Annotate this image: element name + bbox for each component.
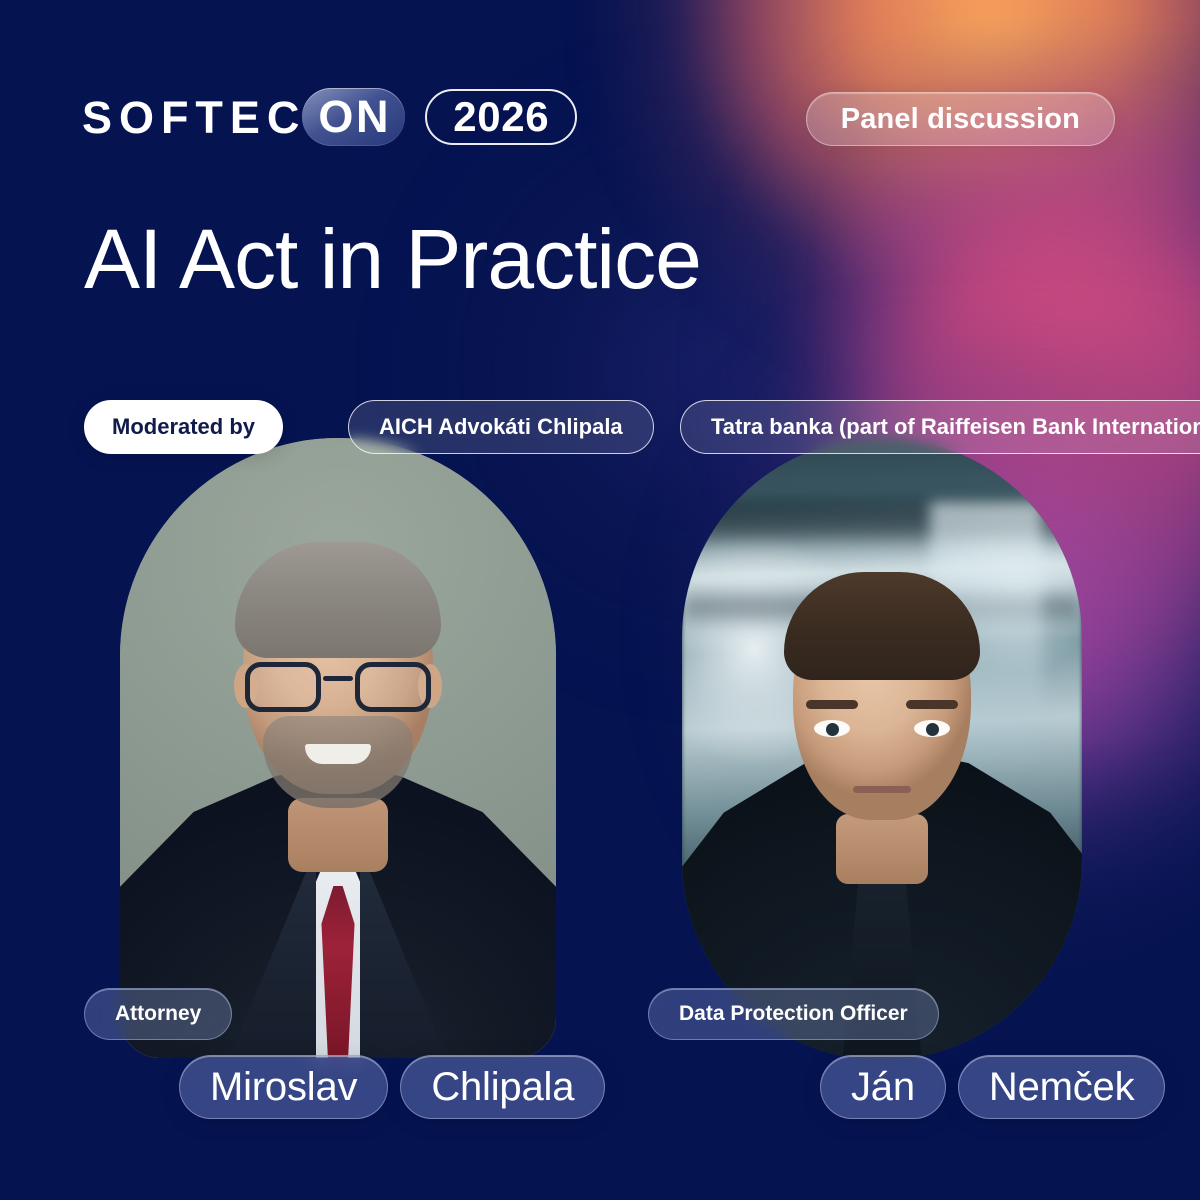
speaker-company-badge-panelist: Tatra banka (part of Raiffeisen Bank Int… [680, 400, 1200, 454]
speaker-photo-jan-nemcek [682, 438, 1082, 1060]
speaker-name-group-moderator: Miroslav Chlipala [179, 1055, 605, 1119]
logo-on-pill: ON [302, 88, 405, 146]
speaker-role-badge-moderator: Attorney [84, 988, 232, 1040]
speaker-role-badge-panelist: Data Protection Officer [648, 988, 939, 1040]
portrait-smile [305, 744, 371, 764]
moderated-by-badge: Moderated by [84, 400, 283, 454]
portrait-pupil-right [926, 723, 939, 736]
poster-header: SOFTEC ON 2026 Panel discussion [0, 0, 1200, 200]
poster-canvas: SOFTEC ON 2026 Panel discussion AI Act i… [0, 0, 1200, 1200]
portrait-eyeglasses [245, 662, 431, 716]
speaker-card-moderator: Moderated by AICH Advokáti Chlipala Atto… [84, 390, 594, 1150]
speaker-company-badge-moderator: AICH Advokáti Chlipala [348, 400, 654, 454]
logo-prefix-text: SOFTEC [82, 95, 306, 140]
speaker-card-panelist: Tatra banka (part of Raiffeisen Bank Int… [648, 390, 1148, 1150]
portrait-pupil-left [826, 723, 839, 736]
portrait-neck [836, 814, 928, 884]
portrait-neck [288, 798, 388, 872]
speakers-section: Moderated by AICH Advokáti Chlipala Atto… [0, 390, 1200, 1150]
moderated-by-label: Moderated by [112, 414, 255, 440]
speaker-first-name: Ján [851, 1065, 915, 1110]
speaker-last-name: Chlipala [431, 1065, 574, 1110]
portrait-mouth [853, 786, 911, 793]
logo-year-pill: 2026 [425, 89, 577, 145]
portrait-eyebrow-left [806, 700, 858, 709]
speaker-last-name: Nemček [989, 1065, 1135, 1110]
speaker-name-group-panelist: Ján Nemček [820, 1055, 1165, 1119]
eyeglass-lens-right [355, 662, 431, 712]
logo-wordmark: SOFTEC [82, 95, 306, 140]
speaker-first-name-pill: Miroslav [179, 1055, 388, 1119]
logo-year-text: 2026 [453, 93, 549, 141]
speaker-role-label: Attorney [115, 1002, 201, 1026]
logo-on-text: ON [318, 91, 391, 143]
session-type-badge: Panel discussion [806, 92, 1115, 146]
eyeglass-bridge [323, 676, 353, 681]
softecon-logo[interactable]: SOFTEC ON 2026 [82, 88, 577, 146]
eyeglass-lens-left [245, 662, 321, 712]
page-title: AI Act in Practice [84, 215, 701, 304]
speaker-role-label: Data Protection Officer [679, 1002, 908, 1026]
portrait-eyebrow-right [906, 700, 958, 709]
speaker-last-name-pill: Nemček [958, 1055, 1166, 1119]
speaker-company-label: AICH Advokáti Chlipala [379, 414, 623, 440]
speaker-first-name: Miroslav [210, 1065, 357, 1110]
speaker-first-name-pill: Ján [820, 1055, 946, 1119]
session-type-badge-label: Panel discussion [841, 103, 1080, 136]
speaker-last-name-pill: Chlipala [400, 1055, 605, 1119]
speaker-company-label: Tatra banka (part of Raiffeisen Bank Int… [711, 414, 1200, 440]
speaker-photo-miroslav-chlipala [120, 438, 556, 1058]
